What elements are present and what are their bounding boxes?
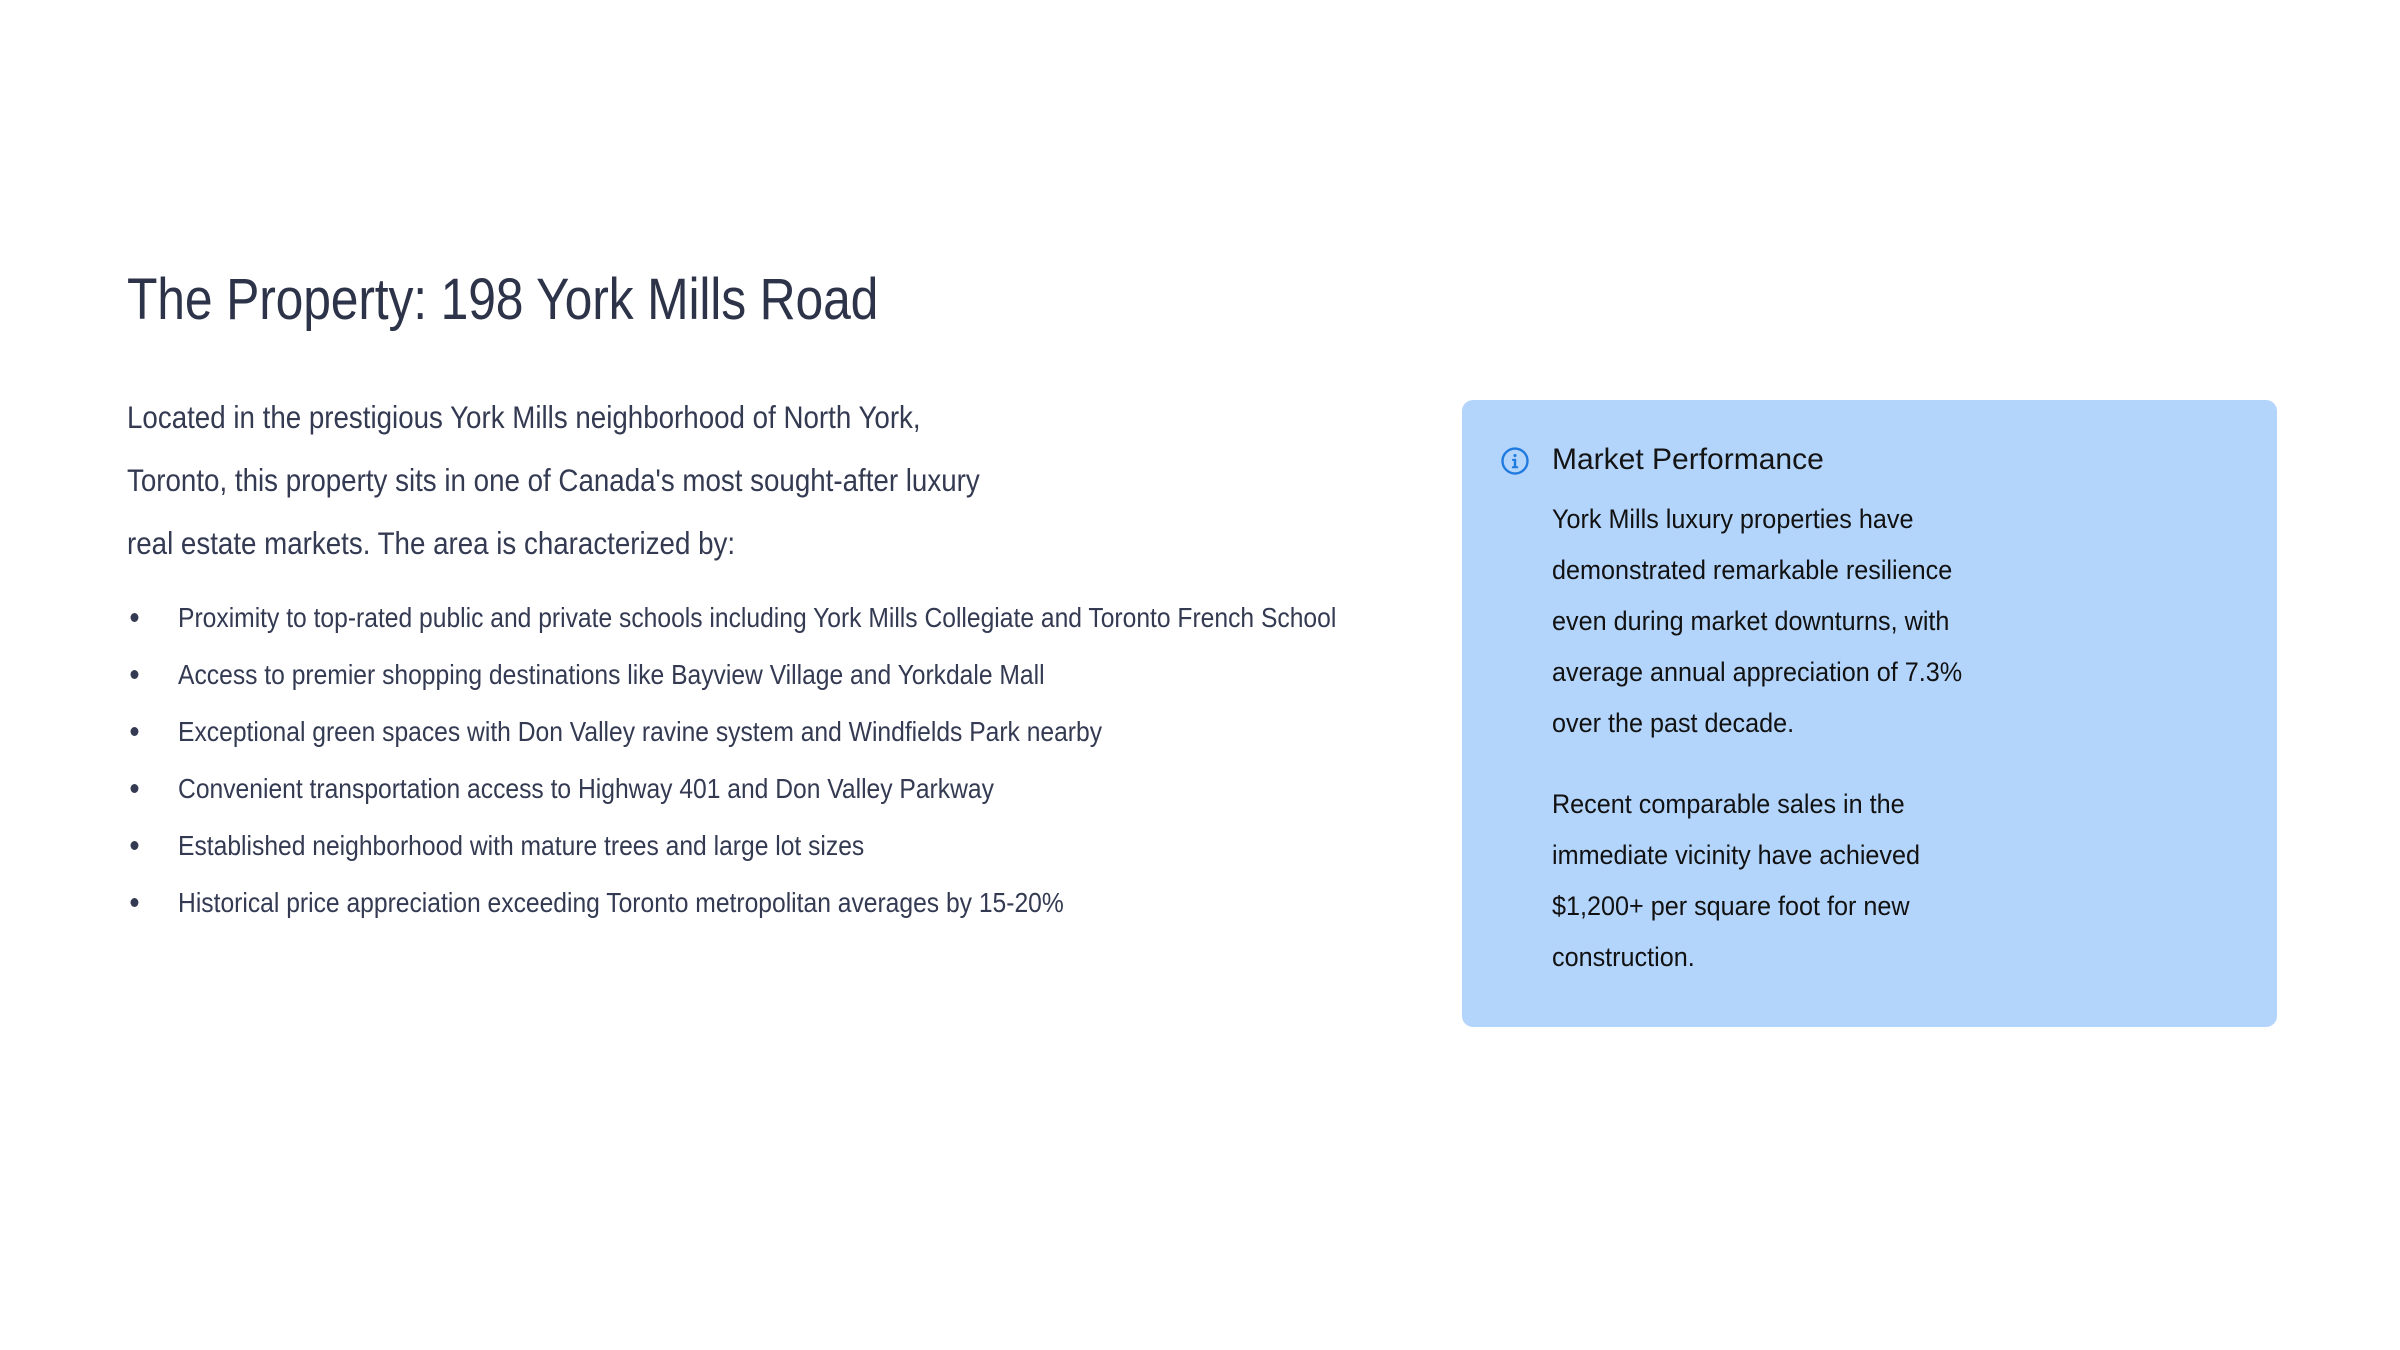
page-title: The Property: 198 York Mills Road [127, 261, 878, 339]
bullet-icon [131, 898, 139, 907]
slide-canvas: The Property: 198 York Mills Road Locate… [0, 0, 2400, 1350]
neighborhood-feature-list: Proximity to top-rated public and privat… [127, 595, 1429, 925]
bullet-icon [131, 841, 139, 850]
list-item-label: Proximity to top-rated public and privat… [178, 602, 1336, 633]
market-performance-callout: Market Performance York Mills luxury pro… [1462, 400, 2277, 1027]
list-item-label: Historical price appreciation exceeding … [178, 887, 1064, 918]
bullet-icon [131, 784, 139, 793]
bullet-icon [131, 727, 139, 736]
property-description-column: Located in the prestigious York Mills ne… [127, 386, 1427, 937]
callout-paragraph: Recent comparable sales in the immediate… [1552, 779, 1970, 983]
list-item: Convenient transportation access to High… [127, 766, 1429, 811]
intro-paragraph: Located in the prestigious York Mills ne… [127, 386, 1007, 575]
list-item-label: Access to premier shopping destinations … [178, 659, 1045, 690]
bullet-icon [131, 613, 139, 622]
callout-header: Market Performance [1500, 440, 2215, 480]
callout-title: Market Performance [1552, 440, 1824, 480]
list-item: Exceptional green spaces with Don Valley… [127, 709, 1429, 754]
list-item-label: Established neighborhood with mature tre… [178, 830, 864, 861]
list-item-label: Convenient transportation access to High… [178, 773, 994, 804]
list-item: Access to premier shopping destinations … [127, 652, 1429, 697]
callout-body: York Mills luxury properties have demons… [1500, 494, 2215, 983]
info-circle-icon [1500, 446, 1530, 476]
callout-paragraph: York Mills luxury properties have demons… [1552, 494, 1970, 749]
list-item: Established neighborhood with mature tre… [127, 823, 1429, 868]
list-item: Proximity to top-rated public and privat… [127, 595, 1429, 640]
list-item-label: Exceptional green spaces with Don Valley… [178, 716, 1102, 747]
bullet-icon [131, 670, 139, 679]
list-item: Historical price appreciation exceeding … [127, 880, 1429, 925]
